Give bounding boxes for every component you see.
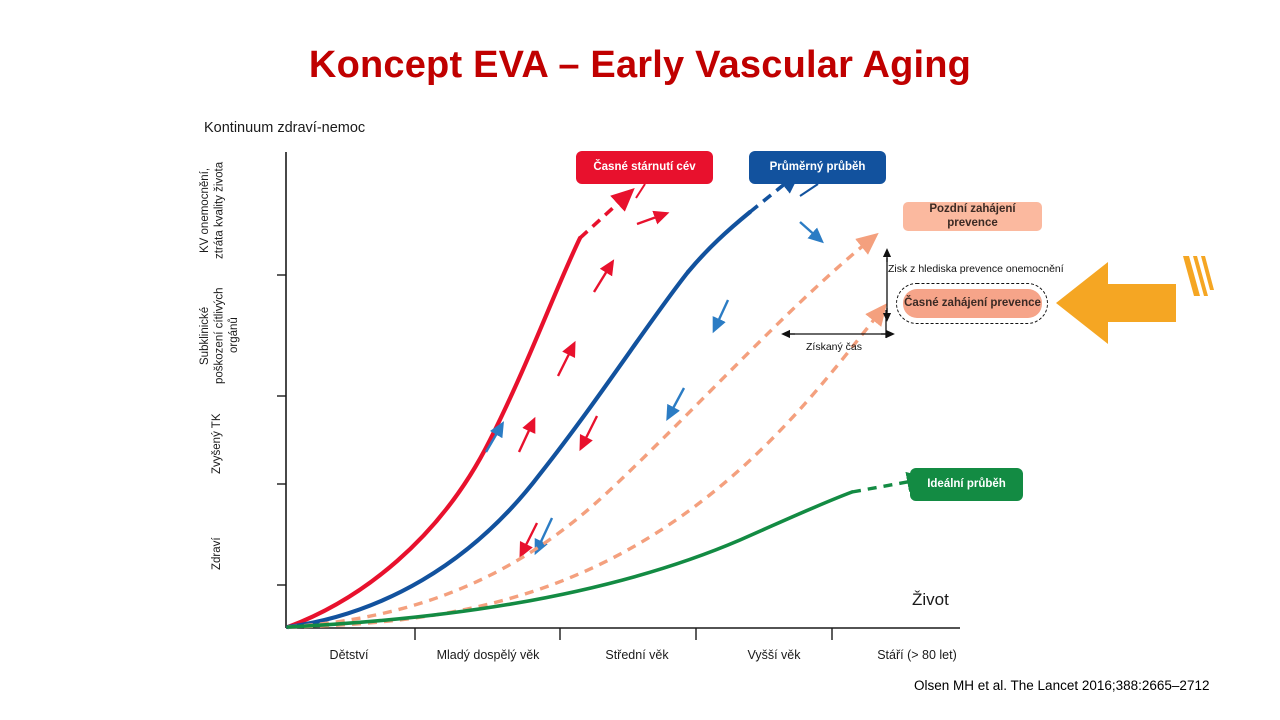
chip-early-prevention[interactable]: Časné zahájení prevence	[903, 289, 1042, 318]
x-tick-label-3: Vyšší věk	[716, 648, 832, 662]
chip-late-prevention[interactable]: Pozdní zahájení prevence	[903, 202, 1042, 231]
curve-average	[288, 178, 818, 627]
chip-average[interactable]: Průměrný průběh	[749, 151, 886, 184]
x-tick-label-1: Mladý dospělý věk	[416, 648, 560, 662]
x-tick-label-0: Dětství	[294, 648, 404, 662]
annotation-time	[785, 310, 891, 338]
chart-axes	[277, 152, 960, 640]
curve-ideal	[288, 480, 918, 627]
y-tick-label-3: Zdraví	[210, 526, 226, 582]
citation-text: Olsen MH et al. The Lancet 2016;388:2665…	[914, 678, 1209, 693]
x-tick-label-2: Střední věk	[578, 648, 696, 662]
highlight-arrow-icon	[1056, 256, 1214, 344]
curve-late-prevention	[288, 240, 870, 627]
annotation-time-label: Získaný čas	[806, 341, 862, 353]
y-tick-label-2: Zvyšený TK	[210, 405, 226, 483]
y-tick-label-0: KV onemocnění, ztráta kvality života	[198, 158, 232, 263]
diagram-svg	[0, 0, 1280, 720]
annotation-gain-label: Zisk z hlediska prevence onemocnění	[888, 263, 1064, 275]
chip-ideal[interactable]: Ideální průběh	[910, 468, 1023, 501]
chip-connectors	[636, 184, 818, 198]
x-tick-label-4: Stáří (> 80 let)	[846, 648, 988, 662]
slide-canvas: Koncept EVA – Early Vascular Aging Konti…	[0, 0, 1280, 720]
y-tick-label-1: Subklinické poškození cítlivých orgánů	[198, 283, 242, 388]
chip-early-aging[interactable]: Časné stárnutí cév	[576, 151, 713, 184]
x-axis-title: Život	[912, 590, 949, 610]
